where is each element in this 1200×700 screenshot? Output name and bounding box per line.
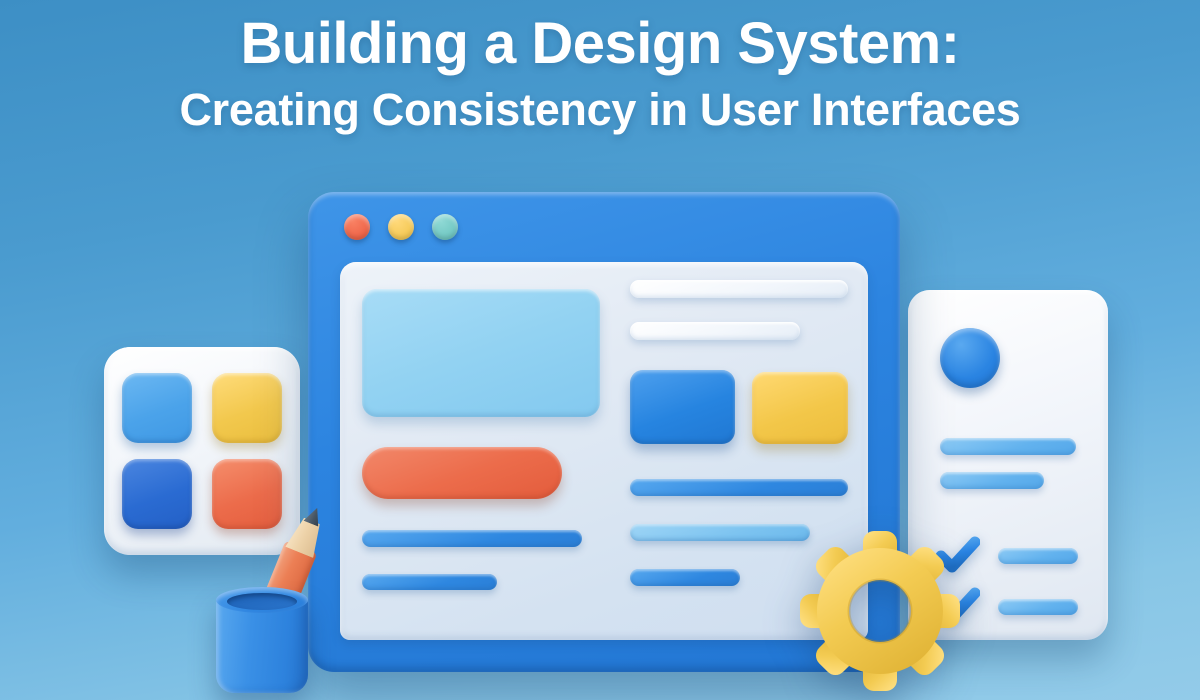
pencil-and-cup: [210, 495, 370, 695]
checklist-item-2-bar: [998, 599, 1078, 615]
swatch-dark-blue[interactable]: [122, 459, 192, 529]
text-line-short: [362, 574, 497, 590]
hero-placeholder: [362, 289, 600, 417]
close-dot-icon[interactable]: [344, 214, 370, 240]
component-card-yellow[interactable]: [752, 372, 848, 444]
swatch-yellow[interactable]: [212, 373, 282, 443]
gear-icon[interactable]: [800, 528, 960, 693]
maximize-dot-icon[interactable]: [432, 214, 458, 240]
page-title-line-2: Creating Consistency in User Interfaces: [0, 83, 1200, 136]
checklist-item-1-bar: [998, 548, 1078, 564]
primary-cta-placeholder[interactable]: [362, 447, 562, 499]
profile-line-1: [940, 438, 1076, 455]
component-card-blue[interactable]: [630, 370, 735, 444]
heading-line-1: [630, 280, 848, 298]
pencil-cup-opening: [227, 593, 297, 610]
browser-viewport: [340, 262, 868, 640]
swatch-light-blue[interactable]: [122, 373, 192, 443]
body-line-1: [630, 479, 848, 496]
settings-gear[interactable]: [800, 528, 960, 693]
body-line-2: [630, 524, 810, 541]
browser-titlebar: [308, 192, 900, 262]
text-line-long: [362, 530, 582, 547]
avatar: [940, 328, 1000, 388]
minimize-dot-icon[interactable]: [388, 214, 414, 240]
heading-line-2: [630, 322, 800, 340]
page-title-line-1: Building a Design System:: [0, 12, 1200, 77]
profile-line-2: [940, 472, 1044, 489]
traffic-light-dots: [344, 214, 458, 240]
body-line-3: [630, 569, 740, 586]
page-title: Building a Design System: Creating Consi…: [0, 12, 1200, 136]
